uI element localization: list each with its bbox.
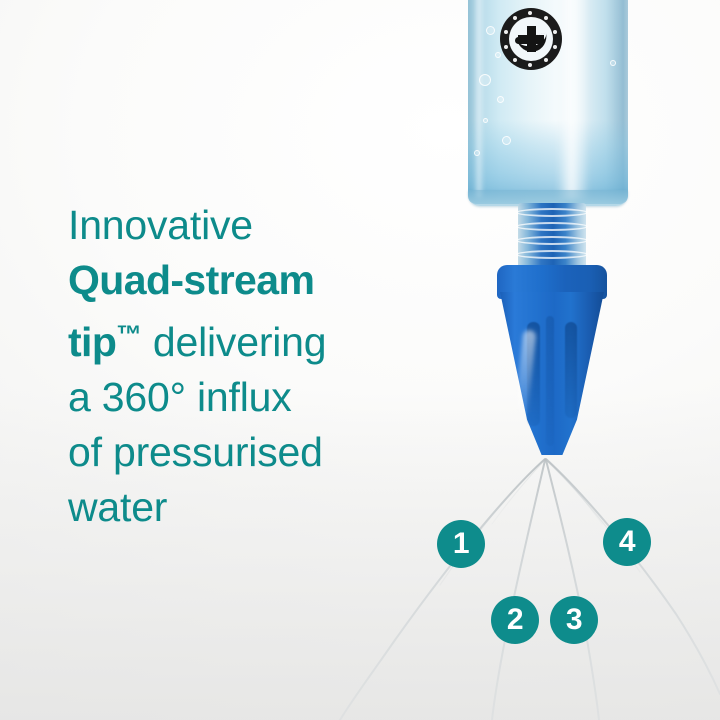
tip-groove [527,322,540,426]
bubble-icon [479,74,491,86]
trademark-symbol: ™ [116,321,141,349]
bubble-icon [610,60,616,66]
headline-line-2-bold: Quad-stream [68,257,314,303]
headline-copy: Innovative Quad-stream tip™ delivering a… [68,198,468,535]
bottle-thread [516,222,588,231]
tip-groove [546,316,554,446]
bottle-base-rim [468,190,628,206]
bottle-thread [516,236,588,245]
tip-groove [565,322,577,418]
headline-line-5: of pressurised [68,425,468,480]
bottle-brand-logo-icon [500,8,562,70]
bottle-neck [518,203,586,269]
bottle-highlight [556,0,590,200]
bottle-edge-highlight [474,0,484,198]
stream-badge-3: 3 [550,596,598,644]
bubble-icon [474,150,480,156]
headline-line-3-bold: tip [68,319,116,365]
quad-stream-tip-cone [500,292,604,460]
bubble-icon [483,118,488,123]
headline-line-3: tip™ delivering [68,308,468,370]
logo-swoosh-icon [517,33,550,55]
headline-line-3-regular: delivering [142,319,327,365]
bubble-icon [497,96,504,103]
bubble-icon [486,26,495,35]
quad-stream-tip-collar [497,265,607,299]
logo-emblem-icon [509,17,553,61]
bottle-body [468,0,628,204]
headline-line-1: Innovative [68,198,468,253]
logo-dot-icon [515,37,522,44]
logo-cross-icon [518,26,544,52]
stream-badge-1: 1 [437,520,485,568]
stream-badge-4: 4 [603,518,651,566]
bottle-thread [516,250,588,259]
tip-highlight [515,330,537,417]
bottle-thread [516,208,588,217]
headline-line-2: Quad-stream [68,253,468,308]
headline-line-6: water [68,480,468,535]
bubble-icon [495,52,501,58]
bottle-water-contents [468,120,628,204]
bubble-icon [502,136,511,145]
stream-badge-2: 2 [491,596,539,644]
headline-line-4: a 360° influx [68,370,468,425]
product-graphic-canvas: Innovative Quad-stream tip™ delivering a… [0,0,720,720]
